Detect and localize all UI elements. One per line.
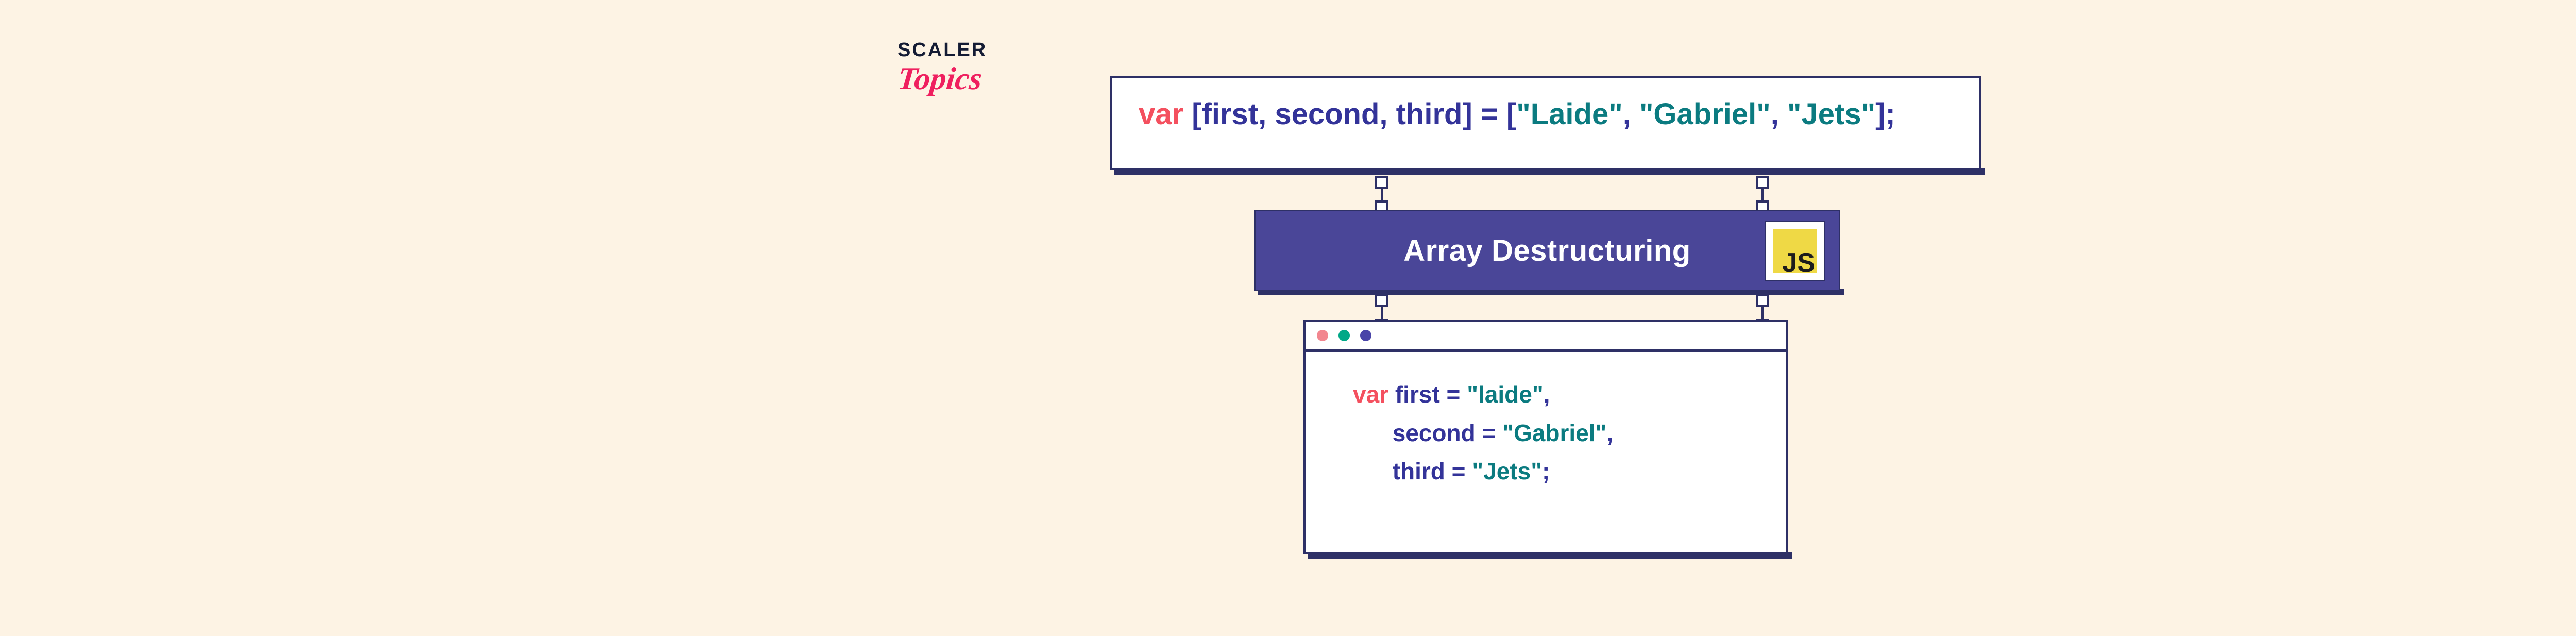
connector-top-left [1375,176,1388,214]
token-string-laide: "Laide" [1516,97,1622,131]
logo-wordmark: SCALER [897,40,1031,60]
token-string-gabriel: "Gabriel" [1502,420,1606,446]
token-separator-2: , [1771,97,1787,131]
token-array-open: [ [1506,97,1516,131]
js-yellow-square: JS [1773,229,1817,273]
window-titlebar [1306,322,1786,352]
js-badge-label: JS [1782,249,1815,276]
token-string-jets: "Jets" [1787,97,1875,131]
connector-stem [1381,189,1383,200]
array-destructuring-banner: Array Destructuring JS [1254,210,1840,291]
result-code-block: var first = "laide", second = "Gabriel",… [1353,375,1613,491]
token-comma-1: , [1544,381,1550,408]
token-separator-1: , [1623,97,1639,131]
connector-node-upper [1756,176,1769,189]
close-dot-icon[interactable] [1317,330,1328,341]
javascript-icon: JS [1765,221,1825,281]
token-keyword-var: var [1139,97,1183,131]
indent-3 [1353,458,1393,484]
token-keyword-var: var [1353,381,1388,408]
token-string-gabriel: "Gabriel" [1639,97,1771,131]
token-id-third: third [1393,458,1445,484]
diagram-canvas: SCALER Topics var [first, second, third]… [0,0,2576,636]
token-equals-1: = [1440,381,1467,408]
token-string-laide: "laide" [1467,381,1543,408]
connector-node-upper [1756,294,1769,307]
token-equals-3: = [1445,458,1472,484]
token-string-jets: "Jets" [1472,458,1542,484]
token-semicolon: ; [1885,97,1895,131]
minimize-dot-icon[interactable] [1338,330,1350,341]
scaler-topics-logo: SCALER Topics [897,40,1031,133]
logo-subwordmark: Topics [896,63,1031,95]
connector-stem [1761,189,1764,200]
connector-node-upper [1375,176,1388,189]
window-body: var first = "laide", second = "Gabriel",… [1306,352,1786,552]
connector-node-upper [1375,294,1388,307]
token-comma-2: , [1606,420,1613,446]
token-semicolon: ; [1542,458,1550,484]
top-code-line: var [first, second, third] = ["Laide", "… [1139,98,1963,131]
result-code-window: var first = "laide", second = "Gabriel",… [1303,320,1788,554]
token-destructuring-pattern: [first, second, third] = [1183,97,1506,131]
connector-stem [1381,307,1383,319]
banner-title: Array Destructuring [1403,233,1690,268]
token-array-close: ] [1875,97,1885,131]
connector-top-right [1756,176,1769,214]
maximize-dot-icon[interactable] [1360,330,1371,341]
token-equals-2: = [1476,420,1502,446]
token-id-second: second [1393,420,1476,446]
indent-2 [1353,420,1393,446]
connector-stem [1761,307,1764,319]
token-id-first: first [1388,381,1440,408]
